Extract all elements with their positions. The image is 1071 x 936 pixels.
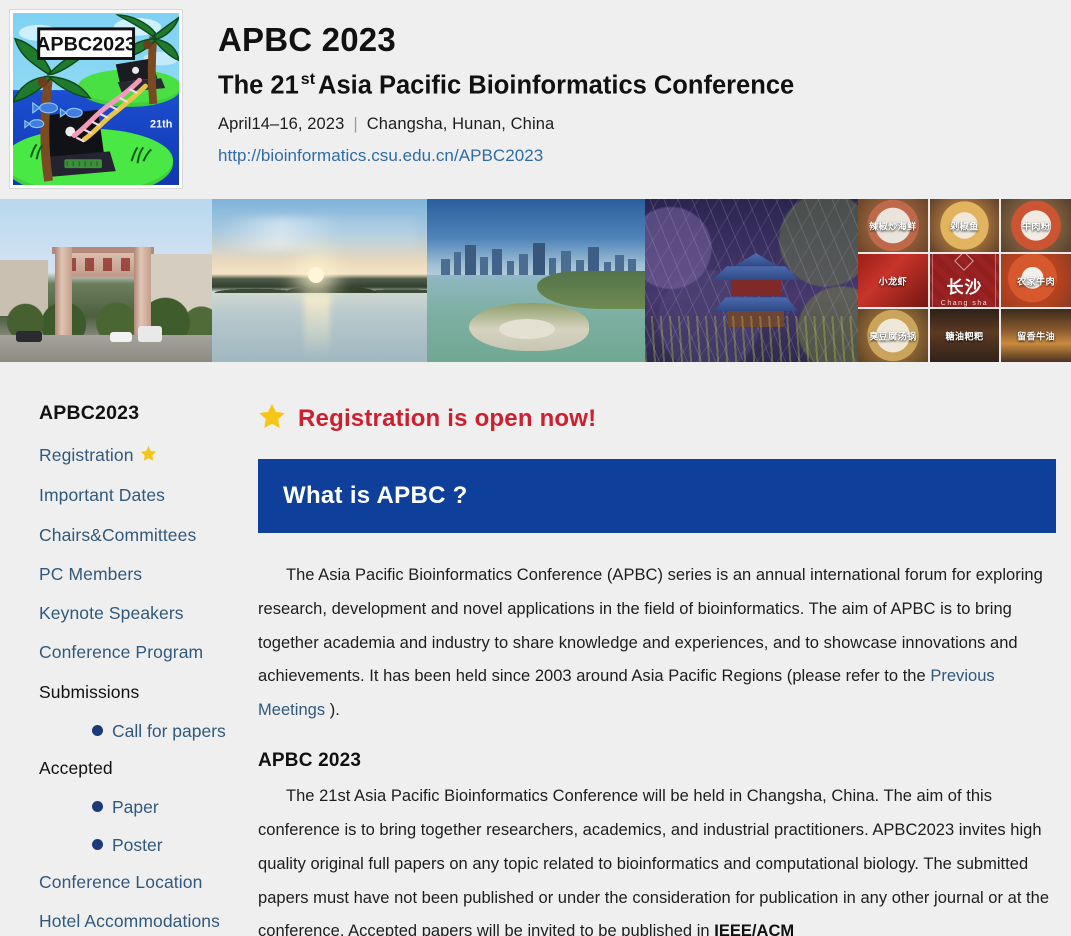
sidebar-title: APBC2023 xyxy=(39,402,258,425)
banner-image-food-collage: 辣椒炒海鲜 剁椒鱼 牛肉粉 小龙虾 长沙 Chang sha 农家牛肉 臭豆腐汤… xyxy=(858,199,1071,362)
sidebar-item-pc-members[interactable]: PC Members xyxy=(39,565,258,584)
food-label: 剁椒鱼 xyxy=(950,219,979,232)
sidebar-item-hotel-accommodations[interactable]: Hotel Accommodations xyxy=(39,912,258,931)
food-tile: 臭豆腐汤锅 xyxy=(858,309,928,362)
conference-logo: APBC2023 21th xyxy=(9,9,183,189)
brand-name: 长沙 xyxy=(946,273,982,298)
conference-full-name: The 21stAsia Pacific Bioinformatics Conf… xyxy=(218,71,794,101)
food-label: 小龙虾 xyxy=(879,274,908,287)
conference-website-link[interactable]: http://bioinformatics.csu.edu.cn/APBC202… xyxy=(218,146,543,166)
logo-edition-label: 21th xyxy=(150,119,172,131)
sidebar-item-chairs-committees[interactable]: Chairs&Committees xyxy=(39,526,258,545)
logo-artwork: APBC2023 21th xyxy=(13,13,179,185)
conference-meta: April14–16, 2023|Changsha, Hunan, China xyxy=(218,115,794,134)
photo-banner-strip: 辣椒炒海鲜 剁椒鱼 牛肉粉 小龙虾 长沙 Chang sha 农家牛肉 臭豆腐汤… xyxy=(0,199,1071,362)
page-title: APBC 2023 xyxy=(218,21,794,59)
food-tile: 牛肉粉 xyxy=(1001,199,1071,252)
bullet-icon xyxy=(92,801,103,812)
subsection-title-apbc-2023: APBC 2023 xyxy=(258,750,1056,772)
sidebar-navigation: APBC2023 Registration Important Dates Ch… xyxy=(0,402,258,936)
section-header-bar: What is APBC ? xyxy=(258,459,1056,533)
page-body: APBC2023 Registration Important Dates Ch… xyxy=(0,362,1071,936)
sidebar-item-keynote-speakers[interactable]: Keynote Speakers xyxy=(39,604,258,623)
food-tile: 小龙虾 xyxy=(858,254,928,307)
food-tile: 剁椒鱼 xyxy=(930,199,1000,252)
sun xyxy=(308,267,324,283)
banner-image-orange-isle xyxy=(427,199,645,362)
sidebar-item-conference-location[interactable]: Conference Location xyxy=(39,873,258,892)
food-label: 农家牛肉 xyxy=(1017,274,1055,287)
conference-dates: April14–16, 2023 xyxy=(218,115,344,133)
brand-name-latin: Chang sha xyxy=(941,300,988,307)
food-label: 留香牛油 xyxy=(1017,329,1055,342)
main-content: Registration is open now! What is APBC ?… xyxy=(258,402,1071,936)
sidebar-item-conference-program[interactable]: Conference Program xyxy=(39,643,258,662)
ordinal-suffix: st xyxy=(299,71,318,88)
sidebar-item-accepted-poster[interactable]: Poster xyxy=(92,836,258,855)
food-label: 糖油粑粑 xyxy=(945,329,983,342)
banner-image-aiwan-pavilion xyxy=(645,199,858,362)
orange-isle xyxy=(469,303,589,351)
publisher-name: IEEE/ACM xyxy=(714,922,794,936)
sidebar-item-label: Call for papers xyxy=(112,721,226,741)
food-label: 辣椒炒海鲜 xyxy=(869,219,917,232)
sidebar-item-label: Paper xyxy=(112,797,159,817)
food-tile: 糖油粑粑 xyxy=(930,309,1000,362)
meta-separator: | xyxy=(344,115,366,133)
food-tile: 辣椒炒海鲜 xyxy=(858,199,928,252)
sidebar-group-accepted: Accepted xyxy=(39,759,258,778)
sidebar-item-label: Poster xyxy=(112,835,163,855)
conference-location: Changsha, Hunan, China xyxy=(367,115,555,133)
conference-name-prefix: The 21 xyxy=(218,71,299,99)
sidebar-item-important-dates[interactable]: Important Dates xyxy=(39,486,258,505)
paragraph-text-part1: The Asia Pacific Bioinformatics Conferen… xyxy=(258,566,1043,685)
bullet-icon xyxy=(92,725,103,736)
sidebar-item-registration[interactable]: Registration xyxy=(39,445,258,466)
header-text-block: APBC 2023 The 21stAsia Pacific Bioinform… xyxy=(183,9,794,166)
section-title: What is APBC ? xyxy=(283,482,468,510)
site-header: APBC2023 21th APBC 2023 The 21stAsia Pac… xyxy=(0,0,1071,199)
star-icon xyxy=(258,402,286,435)
banner-image-csu-gate xyxy=(0,199,212,362)
apbc2023-paragraph: The 21st Asia Pacific Bioinformatics Con… xyxy=(258,780,1056,936)
university-gate xyxy=(55,245,151,345)
logo-badge: APBC2023 xyxy=(36,29,136,59)
sidebar-item-accepted-paper[interactable]: Paper xyxy=(92,798,258,817)
registration-notice: Registration is open now! xyxy=(258,402,1056,435)
svg-text:APBC2023: APBC2023 xyxy=(36,34,136,56)
food-label: 牛肉粉 xyxy=(1022,219,1051,232)
paragraph-text-part1: The 21st Asia Pacific Bioinformatics Con… xyxy=(258,787,1049,936)
conference-name-suffix: Asia Pacific Bioinformatics Conference xyxy=(318,71,794,99)
star-icon xyxy=(140,445,157,466)
paragraph-text-part2: ). xyxy=(325,701,340,719)
food-label: 臭豆腐汤锅 xyxy=(869,329,917,342)
changsha-brand-tile: 长沙 Chang sha xyxy=(930,254,1000,307)
sidebar-item-label: Registration xyxy=(39,445,134,465)
sidebar-group-submissions: Submissions xyxy=(39,683,258,702)
registration-notice-text: Registration is open now! xyxy=(298,405,596,433)
banner-image-lake-sunrise xyxy=(212,199,427,362)
food-tile: 农家牛肉 xyxy=(1001,254,1071,307)
about-apbc-paragraph: The Asia Pacific Bioinformatics Conferen… xyxy=(258,559,1056,728)
bullet-icon xyxy=(92,839,103,850)
sidebar-item-call-for-papers[interactable]: Call for papers xyxy=(92,722,258,741)
food-tile: 留香牛油 xyxy=(1001,309,1071,362)
